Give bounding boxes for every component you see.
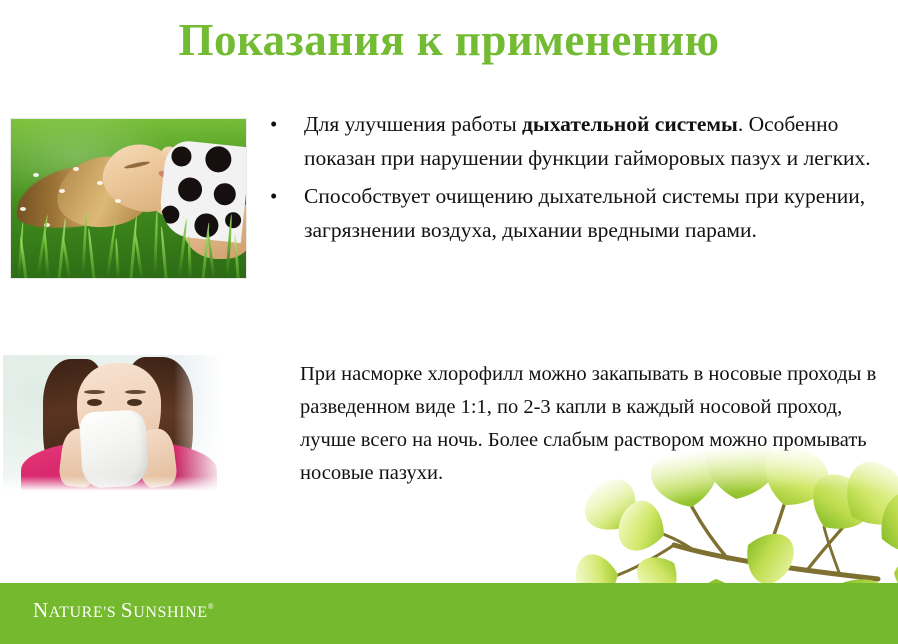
brand-sunshine-initial: S: [121, 598, 133, 622]
list-item: • Для улучшения работы дыхательной систе…: [266, 107, 880, 175]
bullet-text: Способствует очищению дыхательной систем…: [304, 179, 880, 247]
brand-nature-initial: N: [33, 598, 49, 622]
bullet-list: • Для улучшения работы дыхательной систе…: [266, 107, 880, 251]
page-title: Показания к применению: [0, 12, 898, 68]
brand-logo: NATURE'S SUNSHINE®: [33, 598, 214, 623]
woman-with-tissue-photo: [3, 355, 232, 492]
polka-dot-dress-shape: [157, 139, 246, 243]
bullet-text-bold: дыхательной системы: [522, 112, 738, 136]
photo-fade-right: [174, 355, 232, 492]
bullet-marker-icon: •: [266, 179, 304, 213]
eye-right-shape: [127, 399, 142, 406]
bullet-text: Для улучшения работы дыхательной системы…: [304, 107, 880, 175]
bullet-marker-icon: •: [266, 107, 304, 141]
eye-left-shape: [87, 399, 102, 406]
brand-sunshine-rest: UNSHINE: [133, 604, 207, 621]
woman-lying-on-grass-photo: [11, 119, 246, 278]
brand-nature-rest: ATURE'S: [49, 604, 121, 621]
eyebrow-left-shape: [84, 390, 105, 394]
footer-bar: NATURE'S SUNSHINE®: [0, 583, 898, 644]
note-paragraph: При насморке хлорофилл можно закапывать …: [300, 358, 886, 490]
bullet-text-before: Для улучшения работы: [304, 112, 522, 136]
trademark-icon: ®: [208, 602, 215, 611]
eyebrow-right-shape: [125, 390, 146, 394]
list-item: • Способствует очищению дыхательной сист…: [266, 179, 880, 247]
slide-canvas: Показания к применению: [0, 0, 898, 644]
photo-fade-bottom: [3, 476, 232, 492]
